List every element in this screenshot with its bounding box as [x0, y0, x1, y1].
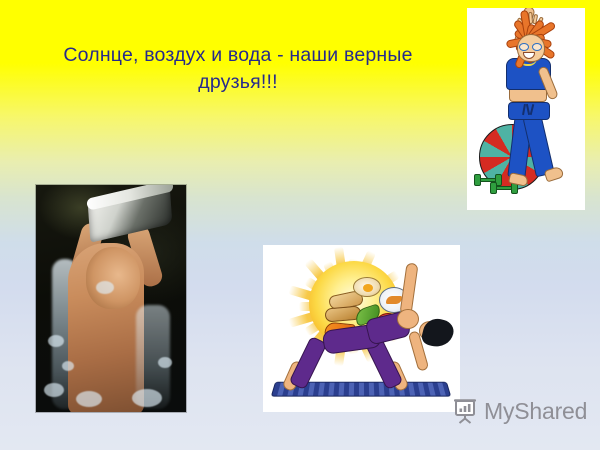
water-droplet — [44, 383, 64, 397]
food-egg — [353, 277, 381, 297]
myshared-label: MyShared — [484, 400, 587, 423]
presentation-board-icon — [452, 398, 478, 424]
child-head — [86, 247, 140, 309]
girl-clipart-canvas — [467, 8, 585, 210]
girl-glasses — [519, 43, 544, 51]
water-droplet — [62, 361, 74, 371]
presentation-slide: Солнце, воздух и вода - наши верные друз… — [0, 0, 600, 450]
water-droplet — [96, 281, 114, 294]
yoga-shoulder — [397, 309, 419, 329]
image-girl-exercising — [467, 8, 585, 210]
water-droplet — [158, 357, 172, 368]
image-yoga-sun-food — [263, 245, 460, 412]
slide-title: Солнце, воздух и вода - наши верные друз… — [18, 42, 458, 96]
girl-drawstring — [523, 104, 535, 116]
water-droplet — [76, 391, 102, 407]
myshared-watermark: MyShared — [452, 398, 587, 424]
water-droplet — [132, 389, 162, 407]
image-child-water-photo — [36, 185, 186, 412]
water-droplet — [48, 335, 64, 347]
